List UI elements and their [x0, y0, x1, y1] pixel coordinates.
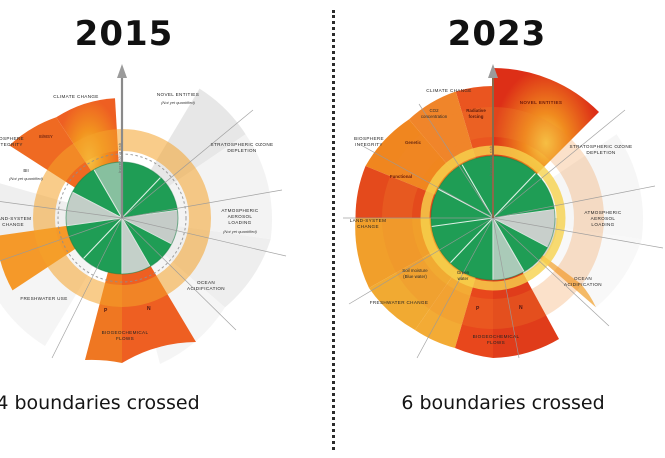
caption-2015: 4 boundaries crossed: [0, 392, 264, 414]
boundary-note-atmospheric-aerosol-loading-2015: (Not yet quantified): [202, 229, 278, 234]
boundary-label-freshwater-change-2023: FRESHWATER CHANGE: [349, 300, 449, 306]
subsector-label-bii-2015: BII: [6, 168, 46, 174]
subsector-label-functional-2023: Functional: [375, 174, 427, 180]
subsector-label-co2-concentration-2023: CO2 concentration: [407, 108, 461, 119]
subsector-label-biogeochemical-p-2015: P: [104, 308, 107, 314]
axis-label-2023: Increasing risk: [488, 146, 493, 176]
boundary-label-novel-entities-2015: NOVEL ENTITIES: [140, 92, 216, 98]
boundary-label-land-system-change-2015: LAND-SYSTEM CHANGE: [0, 216, 44, 228]
boundary-label-climate-change-2015: CLIMATE CHANGE: [38, 94, 114, 100]
wheel-2015: Increasing risk CLIMATE CHANGE NOVEL ENT…: [0, 58, 332, 378]
subsector-label-biogeochemical-n-2015: N: [147, 306, 151, 312]
wheel-2023: Increasing risk CLIMATE CHANGE CO2 conce…: [333, 58, 665, 378]
subsector-label-radiative-forcing-2023: Radiative forcing: [456, 108, 496, 119]
boundary-label-biogeochemical-flows-2015: BIOGEOCHEMICAL FLOWS: [80, 330, 170, 342]
caption-2023: 6 boundaries crossed: [337, 392, 665, 414]
subsector-note-bii-2015: (Not yet quantified): [0, 176, 66, 181]
subsector-label-green-water-2023: Green water: [445, 270, 481, 281]
boundary-label-stratospheric-ozone-depletion-2015: STRATOSPHERIC OZONE DEPLETION: [196, 142, 288, 154]
boundary-label-biogeochemical-flows-2023: BIOGEOCHEMICAL FLOWS: [451, 334, 541, 346]
panel-2015: 2015: [0, 0, 332, 458]
boundary-label-land-system-change-2023: LAND-SYSTEM CHANGE: [335, 218, 401, 230]
boundary-note-novel-entities-2015: (Not yet quantified): [140, 100, 216, 105]
page-title-2023: 2023: [331, 14, 663, 54]
boundary-label-novel-entities-2023: NOVEL ENTITIES: [501, 100, 581, 106]
axis-label-2015: Increasing risk: [117, 143, 122, 173]
boundary-label-stratospheric-ozone-depletion-2023: STRATOSPHERIC OZONE DEPLETION: [551, 144, 651, 156]
boundary-label-ocean-acidification-2023: OCEAN ACIDIFICATION: [545, 276, 621, 288]
boundary-label-ocean-acidification-2015: OCEAN ACIDIFICATION: [168, 280, 244, 292]
subsector-label-biogeochemical-p-2023: P: [476, 306, 479, 312]
page-title-2015: 2015: [0, 14, 290, 54]
subsector-label-emsy-2015: E/MSY: [26, 134, 66, 140]
boundary-label-atmospheric-aerosol-loading-2015: ATMOSPHERIC AEROSOL LOADING: [202, 208, 278, 227]
boundary-label-atmospheric-aerosol-loading-2023: ATMOSPHERIC AEROSOL LOADING: [565, 210, 641, 229]
planetary-boundaries-figure: 2015: [0, 0, 665, 458]
subsector-label-genetic-2023: Genetic: [391, 140, 435, 146]
panel-2023: 2023: [333, 0, 665, 458]
boundary-label-climate-change-2023: CLIMATE CHANGE: [409, 88, 489, 94]
subsector-label-soil-moisture-2023: Soil moisture (Blue water): [387, 268, 443, 279]
boundary-label-freshwater-use-2015: FRESHWATER USE: [4, 296, 84, 302]
subsector-label-biogeochemical-n-2023: N: [519, 305, 523, 311]
